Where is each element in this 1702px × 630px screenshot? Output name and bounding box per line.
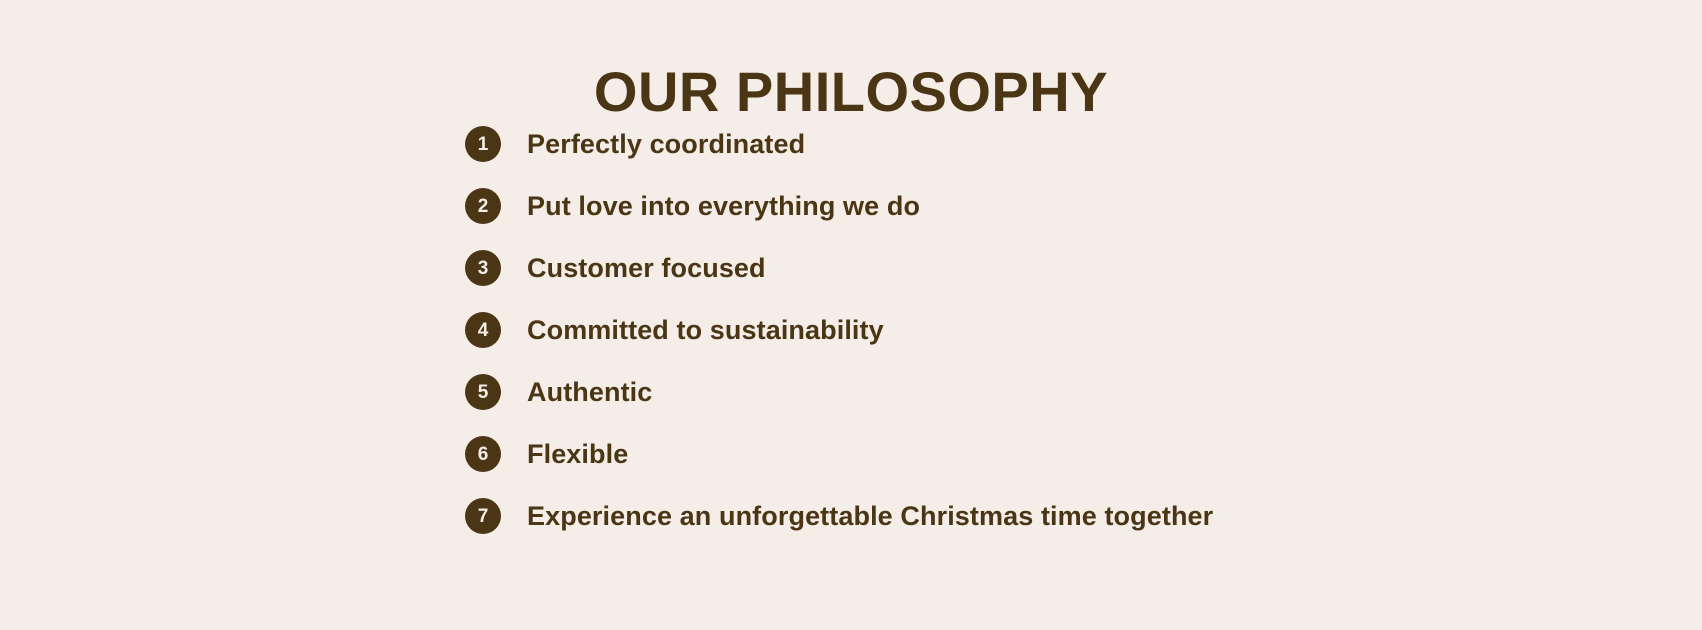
list-item: 7 Experience an unforgettable Christmas …: [465, 485, 1213, 547]
philosophy-list: 1 Perfectly coordinated 2 Put love into …: [465, 113, 1213, 547]
list-item: 2 Put love into everything we do: [465, 175, 1213, 237]
item-number-badge: 2: [465, 188, 501, 224]
list-item-label: Committed to sustainability: [527, 314, 884, 346]
list-item: 3 Customer focused: [465, 237, 1213, 299]
item-number-badge: 3: [465, 250, 501, 286]
list-item-label: Authentic: [527, 376, 652, 408]
list-item-label: Put love into everything we do: [527, 190, 920, 222]
list-item-label: Flexible: [527, 438, 628, 470]
list-item: 1 Perfectly coordinated: [465, 113, 1213, 175]
item-number-badge: 7: [465, 498, 501, 534]
item-number-badge: 1: [465, 126, 501, 162]
list-item: 6 Flexible: [465, 423, 1213, 485]
item-number-badge: 4: [465, 312, 501, 348]
item-number-badge: 5: [465, 374, 501, 410]
list-item: 4 Committed to sustainability: [465, 299, 1213, 361]
item-number-badge: 6: [465, 436, 501, 472]
list-item-label: Customer focused: [527, 252, 766, 284]
list-item-label: Perfectly coordinated: [527, 128, 805, 160]
list-item-label: Experience an unforgettable Christmas ti…: [527, 500, 1213, 532]
list-item: 5 Authentic: [465, 361, 1213, 423]
philosophy-section: OUR PHILOSOPHY 1 Perfectly coordinated 2…: [0, 0, 1702, 630]
